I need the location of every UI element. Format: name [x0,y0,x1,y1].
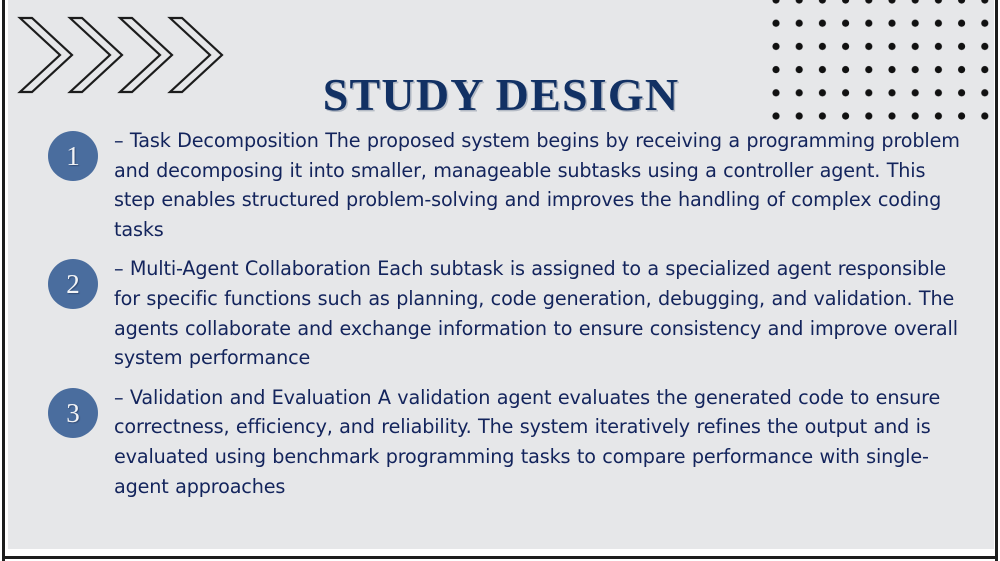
point-text: – Multi-Agent Collaboration Each subtask… [114,254,972,372]
slide-border-left [2,0,5,561]
point-number-badge: 2 [48,259,98,309]
list-item: 2 – Multi-Agent Collaboration Each subta… [32,254,972,372]
point-number-badge: 1 [48,131,98,181]
list-item: 3 – Validation and Evaluation A validati… [32,383,972,501]
point-text: – Validation and Evaluation A validation… [114,383,972,501]
points-list: 1 – Task Decomposition The proposed syst… [32,126,972,509]
slide-canvas: STUDY DESIGN 1 – Task Decomposition The … [8,0,994,549]
slide-border-right [995,0,998,561]
point-text: – Task Decomposition The proposed system… [114,126,972,244]
slide-border-bottom [2,556,998,559]
page-title: STUDY DESIGN [8,68,994,121]
slide: STUDY DESIGN 1 – Task Decomposition The … [0,0,1000,561]
list-item: 1 – Task Decomposition The proposed syst… [32,126,972,244]
point-number-badge: 3 [48,388,98,438]
